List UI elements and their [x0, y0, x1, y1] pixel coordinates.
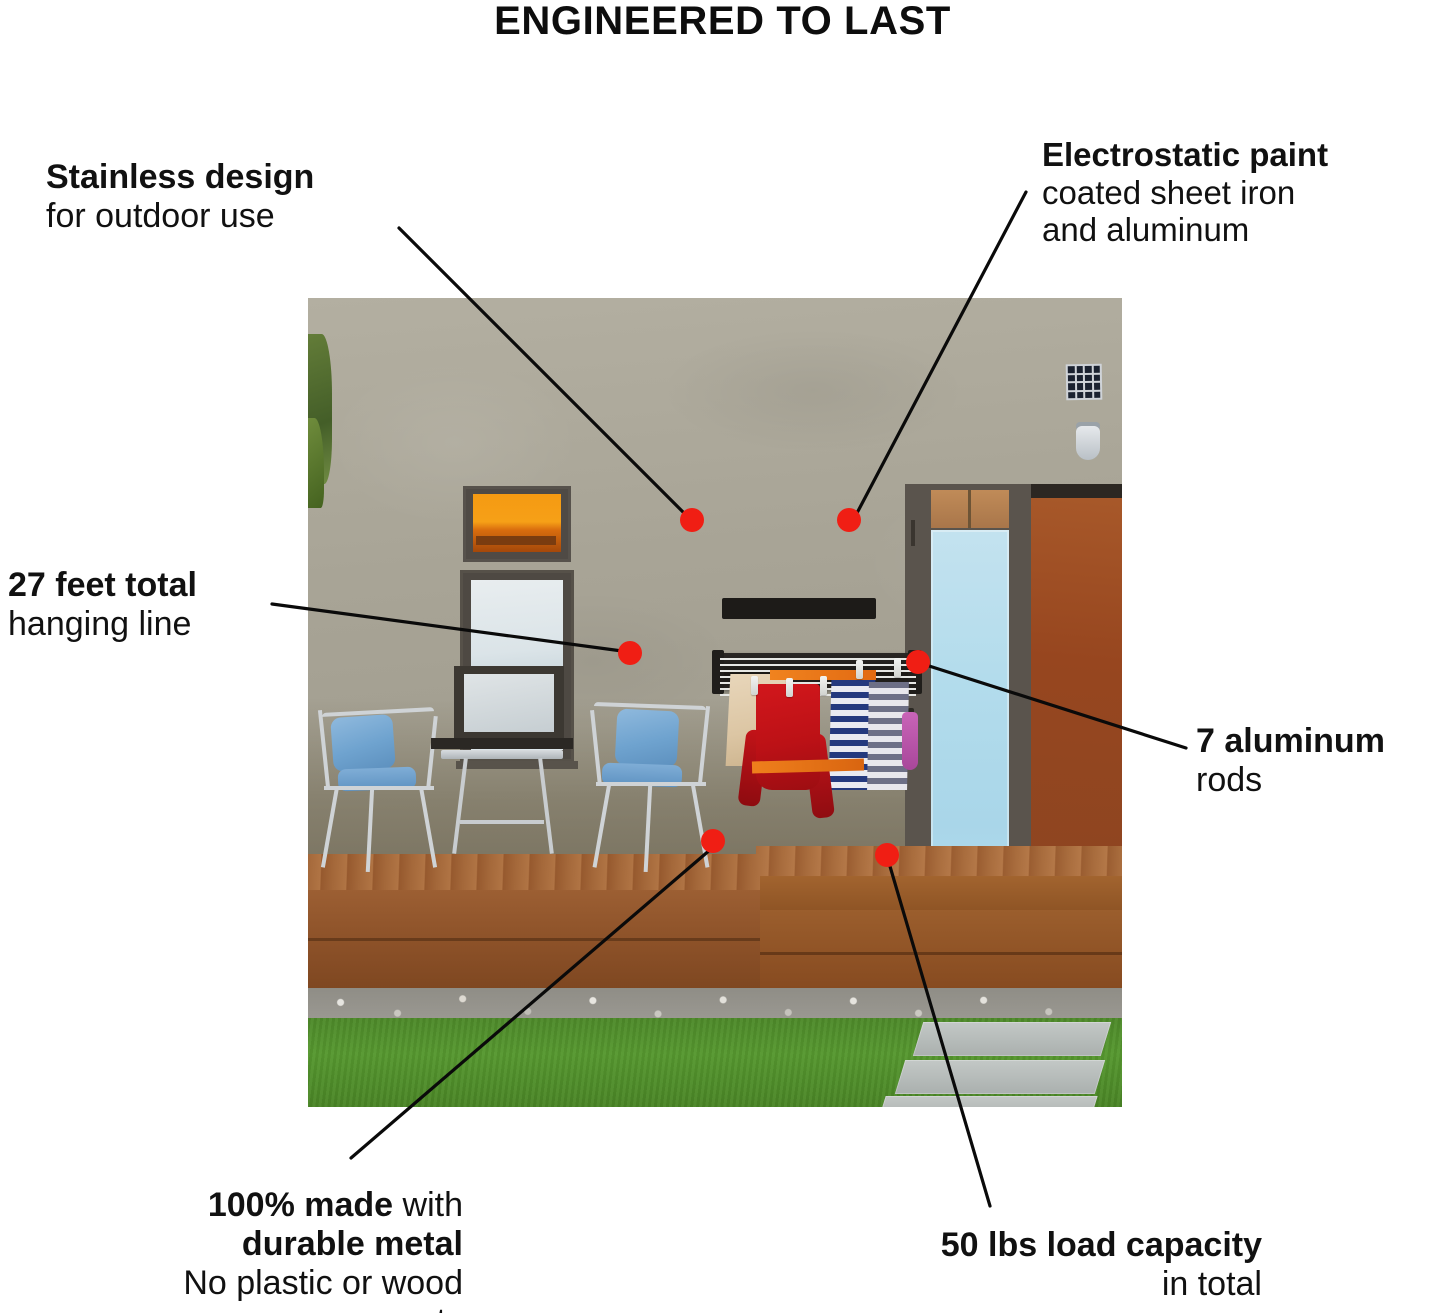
product-photo — [308, 298, 1122, 1107]
callout-line: 50 lbs load capacity — [810, 1226, 1262, 1265]
callout-durable-metal: 100% made with durable metal No plastic … — [98, 1186, 463, 1313]
callout-aluminum-rods: 7 aluminum rods — [1196, 722, 1385, 800]
callout-line: hanging line — [8, 605, 197, 644]
aluminum-rod — [720, 664, 916, 666]
callout-hanging-line: 27 feet total hanging line — [8, 566, 197, 644]
stone-paver — [913, 1022, 1111, 1056]
laundry-purple-sock — [902, 712, 918, 770]
awning-bar — [722, 598, 876, 619]
clothespin — [820, 676, 827, 695]
stone-paver — [878, 1096, 1097, 1107]
deck-seam-left — [308, 938, 760, 941]
deck-seam-right — [756, 952, 1122, 955]
callout-emphasis: 100% made — [208, 1186, 393, 1224]
deck-riser-left — [308, 890, 760, 994]
callout-line: 7 aluminum — [1196, 722, 1385, 761]
callout-stainless-design: Stainless design for outdoor use — [46, 158, 314, 236]
solar-panel — [1066, 364, 1103, 401]
chair-back-cushion — [330, 714, 396, 772]
clothespin — [894, 658, 901, 677]
infographic-canvas: ENGINEERED TO LAST — [0, 0, 1445, 1313]
callout-line: 100% made with — [98, 1186, 463, 1225]
chair-frame — [324, 786, 434, 790]
callout-line: durable metal — [98, 1225, 463, 1264]
side-table-shelf — [431, 738, 573, 749]
side-table-top — [441, 750, 563, 759]
chair-back-cushion — [615, 708, 680, 767]
wall-lamp — [1076, 426, 1100, 460]
door-transom-mullion — [968, 490, 971, 528]
callout-line: Stainless design — [46, 158, 314, 197]
deck-lower-surface — [308, 854, 760, 894]
callout-emphasis: 50 lbs — [941, 1226, 1047, 1264]
callout-electrostatic-paint: Electrostatic paint coated sheet iron an… — [1042, 136, 1328, 249]
wall-mirror-glass — [464, 674, 554, 732]
stone-paver — [895, 1060, 1105, 1094]
interior-header — [1031, 484, 1122, 498]
callout-line: components — [98, 1302, 463, 1313]
callout-suffix: with — [393, 1186, 463, 1224]
deck-step — [756, 876, 1122, 914]
laundry-red-garment — [756, 684, 820, 790]
callout-line: 27 feet total — [8, 566, 197, 605]
side-table-brace — [460, 820, 544, 824]
callout-line: No plastic or wood — [98, 1264, 463, 1303]
aluminum-rod — [720, 658, 916, 660]
callout-line: rods — [1196, 761, 1385, 800]
clothespin — [786, 678, 793, 697]
callout-suffix: load capacity — [1047, 1226, 1262, 1264]
callout-line: coated sheet iron — [1042, 174, 1328, 212]
door-hinge — [911, 520, 915, 546]
callout-line: for outdoor use — [46, 197, 314, 236]
clothespin — [856, 660, 863, 679]
callout-line: Electrostatic paint — [1042, 136, 1328, 174]
clothespin — [751, 676, 758, 695]
deck-upper-surface — [756, 846, 1122, 880]
callout-line: in total — [810, 1265, 1262, 1304]
lower-window-ledge — [456, 761, 578, 769]
page-title: ENGINEERED TO LAST — [0, 0, 1445, 44]
callout-load-capacity: 50 lbs load capacity in total — [810, 1226, 1262, 1304]
upper-window-sill — [476, 536, 556, 545]
callout-line: and aluminum — [1042, 211, 1328, 249]
